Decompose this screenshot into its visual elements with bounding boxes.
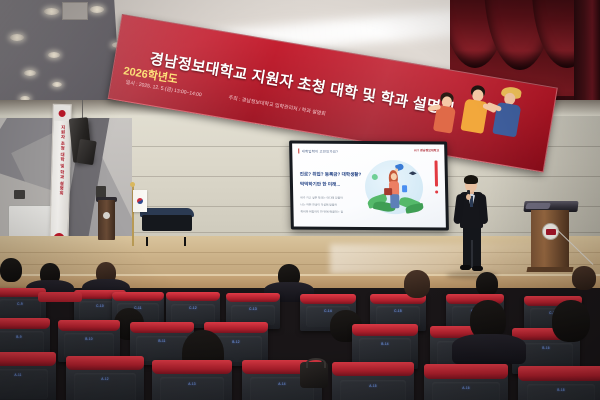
seat-number-tag: B-12	[232, 340, 240, 344]
seat-headrest	[130, 322, 194, 333]
ceiling-vent	[62, 2, 88, 20]
piano-leg-2	[184, 237, 186, 246]
seat-headrest	[424, 364, 508, 379]
downlight-1	[10, 34, 24, 41]
seat[interactable]: B-18	[518, 366, 600, 400]
seat-headrest	[166, 292, 220, 301]
presenter-shoe-left	[460, 265, 471, 270]
seat-number-tag: C-13	[249, 307, 257, 311]
seat-number-tag: B-11	[158, 339, 165, 343]
seat-number-tag: A-14	[278, 382, 286, 386]
slide-student-bag	[384, 188, 392, 195]
downlight-4	[48, 52, 60, 58]
microphone-boom-rod	[556, 228, 593, 265]
seat-number-tag: C-14	[324, 309, 332, 313]
lectern-emblem-mark	[546, 229, 556, 235]
seat-number-tag: B-18	[557, 388, 565, 392]
seat-number-tag: C-9	[17, 302, 23, 306]
piano-leg-1	[146, 237, 148, 246]
slide-body-3: 학비와 취업까지 한 번에 해결하는 길	[300, 210, 343, 214]
slide-book-icon	[402, 185, 407, 192]
side-lectern	[98, 200, 115, 240]
seat[interactable]: A-13	[152, 360, 232, 400]
seat-headrest	[66, 356, 144, 370]
audience-head-far-6	[572, 266, 596, 290]
audience-head-mid-3	[404, 270, 430, 298]
vertical-banner-text: 지원자 초청 대학 및 학과 설명회	[55, 125, 67, 235]
flag-taeguk-symbol	[137, 198, 143, 204]
wall-speaker-icon	[14, 190, 25, 199]
seat[interactable]: A-16	[424, 364, 508, 400]
downlight-3	[24, 70, 36, 76]
downlight-6	[52, 82, 62, 87]
presenter	[452, 170, 492, 275]
seat-back-panel	[432, 382, 499, 400]
seat-headrest	[204, 322, 268, 333]
presenter-arm-right	[478, 194, 489, 225]
slide-headline-2: 막막하기만 한 미래...	[300, 182, 340, 188]
seat-number-tag: B-10	[85, 337, 93, 341]
slide-headline-1: 진로? 취업? 등록금? 대학생활?	[300, 172, 362, 178]
seat-number-tag: B-16	[542, 346, 550, 350]
seat[interactable]: A-12	[66, 356, 144, 400]
seat-headrest	[300, 294, 356, 304]
vertical-banner: 지원자 초청 대학 및 학과 설명회	[49, 104, 72, 251]
slide-university-logo: KIT 경남정보대학교	[414, 148, 439, 152]
slide-coin-icon	[372, 174, 378, 180]
presenter-leg-split	[471, 240, 473, 268]
seat-number-tag: C-10	[96, 304, 104, 308]
seat-headrest	[518, 366, 600, 381]
seat-headrest	[332, 362, 414, 376]
presenter-hair	[464, 175, 478, 184]
seat-headrest	[352, 324, 418, 336]
audience-head-near-3	[552, 300, 590, 342]
seat-armrest	[38, 292, 82, 302]
seat-back-panel	[0, 369, 48, 399]
seat-headrest	[112, 292, 164, 301]
seat-number-tag: A-16	[462, 386, 470, 390]
piano-body	[142, 215, 192, 231]
seat-number-tag: B-9	[16, 335, 22, 339]
slide-body-1: 내가 가고 싶은 학과는 어디에 있을까	[300, 196, 343, 200]
slide-kicker-text: 대학입학이 고민인가요?	[298, 149, 338, 154]
audience-head-far-5	[476, 272, 498, 296]
presenter-hand	[466, 194, 471, 200]
seat[interactable]: A-11	[0, 352, 56, 400]
seat-back-panel	[340, 380, 406, 400]
projection-screen: 대학입학이 고민인가요? KIT 경남정보대학교 진로? 취업? 등록금? 대학…	[292, 143, 446, 227]
handbag-strap	[306, 358, 326, 368]
seat-number-tag: A-12	[101, 377, 109, 381]
slide-body-2: 나는 어떤 전공이 적성에 맞을까	[300, 203, 337, 207]
audience-shoulder-near-2	[452, 334, 526, 364]
grand-piano	[140, 208, 194, 238]
auditorium-photo: 지원자 초청 대학 및 학과 설명회 경남정보대학교 지원자 초청 대학 및 학…	[0, 0, 600, 400]
seat[interactable]: A-15	[332, 362, 414, 400]
seat-number-tag: B-14	[381, 342, 389, 346]
seat-headrest	[0, 318, 50, 329]
slide-exclamation-bar	[434, 160, 438, 186]
flag-pole-finial	[130, 182, 135, 187]
slide-student-head	[391, 173, 397, 180]
lectern-top-highlight	[525, 203, 551, 209]
slide-exclamation-dot	[435, 190, 438, 193]
presenter-shoe-right	[472, 266, 483, 271]
audience-head-far-3	[0, 258, 22, 282]
downlight-2	[44, 8, 59, 15]
seat-headrest	[0, 352, 56, 366]
downlight-7	[90, 6, 104, 13]
korean-national-flag	[133, 190, 147, 212]
seat-number-tag: C-12	[189, 306, 197, 310]
side-lectern-emblem	[103, 212, 110, 219]
slide-student-legs	[390, 194, 399, 208]
seat-number-tag: A-13	[188, 382, 196, 386]
seat-number-tag: A-15	[369, 384, 377, 388]
seat-headrest	[226, 293, 280, 302]
projection-screen-frame: 대학입학이 고민인가요? KIT 경남정보대학교 진로? 취업? 등록금? 대학…	[289, 140, 449, 230]
seat-number-tag: A-11	[14, 373, 21, 377]
seat-headrest	[58, 320, 120, 331]
seat-headrest	[152, 360, 232, 374]
seat-number-tag: C-15	[394, 309, 402, 313]
